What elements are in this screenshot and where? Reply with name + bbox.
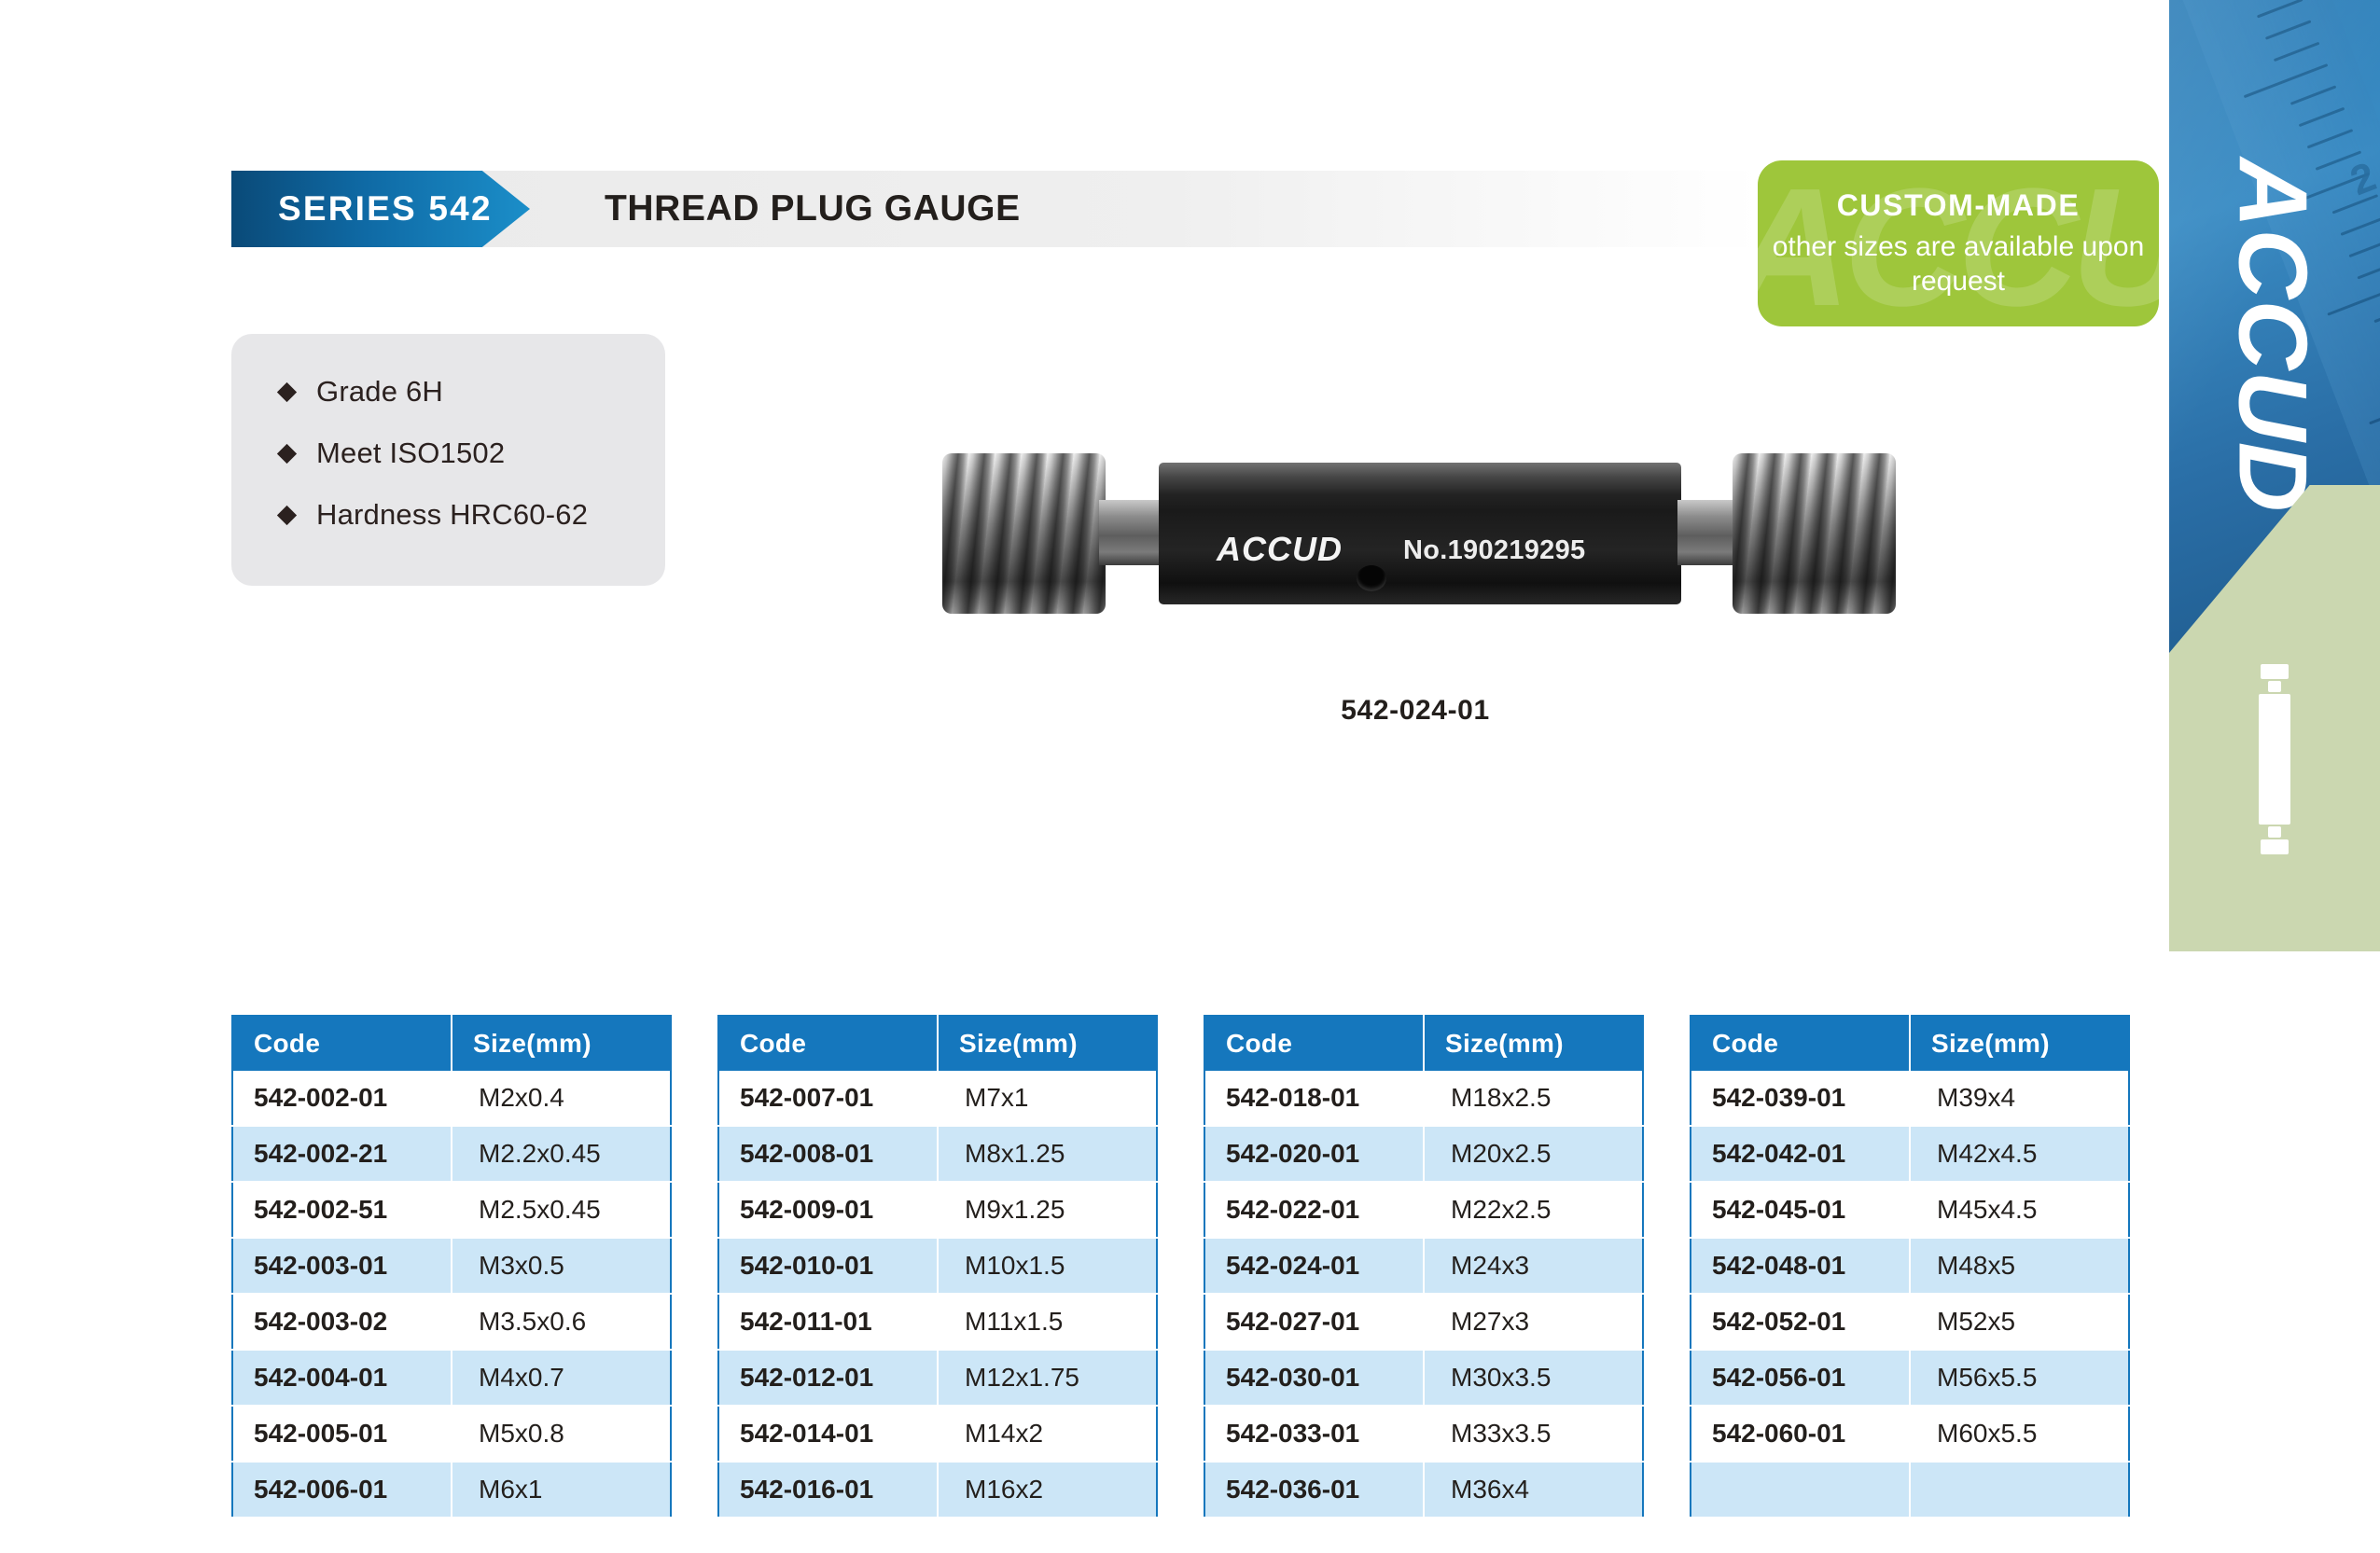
custom-made-badge: ACCUD CUSTOM-MADE other sizes are availa…	[1758, 160, 2159, 326]
cell-size	[1910, 1462, 2129, 1518]
feature-item: Hardness HRC60-62	[280, 498, 665, 532]
cell-size: M6x1	[452, 1462, 671, 1518]
cell-code: 542-060-01	[1691, 1406, 1910, 1462]
table-row: 542-010-01M10x1.5	[718, 1238, 1157, 1294]
table-row: 542-002-51M2.5x0.45	[232, 1182, 671, 1238]
feature-label: Meet ISO1502	[316, 437, 505, 470]
cell-code: 542-002-01	[232, 1071, 452, 1126]
table-row: 542-033-01M33x3.5	[1204, 1406, 1643, 1462]
cell-code: 542-018-01	[1204, 1071, 1424, 1126]
cell-size: M30x3.5	[1424, 1350, 1643, 1406]
cell-size: M3x0.5	[452, 1238, 671, 1294]
table-row: 542-003-02M3.5x0.6	[232, 1294, 671, 1350]
cell-code: 542-004-01	[232, 1350, 452, 1406]
table-row: 542-016-01M16x2	[718, 1462, 1157, 1518]
column-header-code: Code	[718, 1016, 938, 1071]
table-row: 542-004-01M4x0.7	[232, 1350, 671, 1406]
cell-code: 542-010-01	[718, 1238, 938, 1294]
cell-size: M11x1.5	[938, 1294, 1157, 1350]
table-row: 542-011-01M11x1.5	[718, 1294, 1157, 1350]
table-row: 542-003-01M3x0.5	[232, 1238, 671, 1294]
diamond-bullet-icon	[277, 443, 297, 463]
cell-size: M2x0.4	[452, 1071, 671, 1126]
table-header-row: Code Size(mm)	[1691, 1016, 2129, 1071]
cell-size: M56x5.5	[1910, 1350, 2129, 1406]
table-row: 542-018-01M18x2.5	[1204, 1071, 1643, 1126]
cell-code: 542-014-01	[718, 1406, 938, 1462]
table-row: 542-056-01M56x5.5	[1691, 1350, 2129, 1406]
cell-size: M45x4.5	[1910, 1182, 2129, 1238]
column-header-code: Code	[1691, 1016, 1910, 1071]
shank-left	[1099, 500, 1166, 565]
product-caption: 542-024-01	[888, 695, 1942, 727]
cell-code: 542-056-01	[1691, 1350, 1910, 1406]
cell-code: 542-042-01	[1691, 1126, 1910, 1182]
table-header-row: Code Size(mm)	[1204, 1016, 1643, 1071]
column-header-code: Code	[232, 1016, 452, 1071]
cell-code: 542-007-01	[718, 1071, 938, 1126]
table-row: 542-027-01M27x3	[1204, 1294, 1643, 1350]
series-label: SERIES 542	[278, 189, 493, 229]
cell-code: 542-003-02	[232, 1294, 452, 1350]
column-header-size: Size(mm)	[1910, 1016, 2129, 1071]
table-row: 542-014-01M14x2	[718, 1406, 1157, 1462]
spec-table-4: Code Size(mm) 542-039-01M39x4542-042-01M…	[1690, 1015, 2130, 1518]
cell-code: 542-027-01	[1204, 1294, 1424, 1350]
cell-size: M33x3.5	[1424, 1406, 1643, 1462]
table-row: 542-005-01M5x0.8	[232, 1406, 671, 1462]
threaded-end-right	[1733, 453, 1896, 614]
cell-code: 542-016-01	[718, 1462, 938, 1518]
spec-table-2: Code Size(mm) 542-007-01M7x1542-008-01M8…	[717, 1015, 1158, 1518]
gauge-hole	[1357, 565, 1386, 591]
table-header-row: Code Size(mm)	[718, 1016, 1157, 1071]
table-row: 542-045-01M45x4.5	[1691, 1182, 2129, 1238]
cell-size: M36x4	[1424, 1462, 1643, 1518]
cell-code: 542-002-21	[232, 1126, 452, 1182]
feature-label: Grade 6H	[316, 375, 443, 409]
table-row: 542-002-01M2x0.4	[232, 1071, 671, 1126]
cell-size: M24x3	[1424, 1238, 1643, 1294]
cell-size: M3.5x0.6	[452, 1294, 671, 1350]
table-body-4: 542-039-01M39x4542-042-01M42x4.5542-045-…	[1691, 1071, 2129, 1518]
cell-size: M42x4.5	[1910, 1126, 2129, 1182]
table-body-3: 542-018-01M18x2.5542-020-01M20x2.5542-02…	[1204, 1071, 1643, 1518]
cell-code: 542-033-01	[1204, 1406, 1424, 1462]
cell-code: 542-011-01	[718, 1294, 938, 1350]
cell-code: 542-022-01	[1204, 1182, 1424, 1238]
cell-code: 542-008-01	[718, 1126, 938, 1182]
cell-code: 542-048-01	[1691, 1238, 1910, 1294]
spec-tables: Code Size(mm) 542-002-01M2x0.4542-002-21…	[231, 1015, 2153, 1518]
cell-size: M5x0.8	[452, 1406, 671, 1462]
cell-size: M22x2.5	[1424, 1182, 1643, 1238]
cell-code: 542-009-01	[718, 1182, 938, 1238]
cell-size: M16x2	[938, 1462, 1157, 1518]
cell-code: 542-030-01	[1204, 1350, 1424, 1406]
table-row: 542-036-01M36x4	[1204, 1462, 1643, 1518]
cell-size: M2.2x0.45	[452, 1126, 671, 1182]
table-row: 542-020-01M20x2.5	[1204, 1126, 1643, 1182]
features-card: Grade 6H Meet ISO1502 Hardness HRC60-62	[231, 334, 665, 586]
page-header: SERIES 542 THREAD PLUG GAUGE	[231, 171, 1761, 247]
thread-plug-gauge-icon	[2259, 662, 2290, 856]
cell-code: 542-052-01	[1691, 1294, 1910, 1350]
cell-code: 542-039-01	[1691, 1071, 1910, 1126]
table-row: 542-048-01M48x5	[1691, 1238, 2129, 1294]
table-row: 542-008-01M8x1.25	[718, 1126, 1157, 1182]
gauge-brand-label: ACCUD	[1217, 530, 1343, 569]
table-row	[1691, 1462, 2129, 1518]
cell-code: 542-006-01	[232, 1462, 452, 1518]
table-row: 542-030-01M30x3.5	[1204, 1350, 1643, 1406]
feature-item: Grade 6H	[280, 375, 665, 409]
cell-code: 542-003-01	[232, 1238, 452, 1294]
cell-size: M7x1	[938, 1071, 1157, 1126]
spec-table-3: Code Size(mm) 542-018-01M18x2.5542-020-0…	[1204, 1015, 1644, 1518]
cell-code: 542-045-01	[1691, 1182, 1910, 1238]
table-row: 542-039-01M39x4	[1691, 1071, 2129, 1126]
gauge-serial-label: No.190219295	[1403, 535, 1585, 566]
cell-code: 542-002-51	[232, 1182, 452, 1238]
table-row: 542-012-01M12x1.75	[718, 1350, 1157, 1406]
table-header-row: Code Size(mm)	[232, 1016, 671, 1071]
cell-size: M18x2.5	[1424, 1071, 1643, 1126]
threaded-end-left	[942, 453, 1106, 614]
series-badge: SERIES 542	[231, 171, 530, 247]
cell-size: M8x1.25	[938, 1126, 1157, 1182]
table-row: 542-022-01M22x2.5	[1204, 1182, 1643, 1238]
table-row: 542-042-01M42x4.5	[1691, 1126, 2129, 1182]
column-header-size: Size(mm)	[452, 1016, 671, 1071]
cell-size: M10x1.5	[938, 1238, 1157, 1294]
table-body-2: 542-007-01M7x1542-008-01M8x1.25542-009-0…	[718, 1071, 1157, 1518]
cell-code: 542-024-01	[1204, 1238, 1424, 1294]
table-row: 542-052-01M52x5	[1691, 1294, 2129, 1350]
table-row: 542-024-01M24x3	[1204, 1238, 1643, 1294]
cell-size: M4x0.7	[452, 1350, 671, 1406]
cell-code: 542-020-01	[1204, 1126, 1424, 1182]
cell-size: M60x5.5	[1910, 1406, 2129, 1462]
table-row: 542-007-01M7x1	[718, 1071, 1157, 1126]
page-title: THREAD PLUG GAUGE	[605, 171, 1021, 247]
spec-table-1: Code Size(mm) 542-002-01M2x0.4542-002-21…	[231, 1015, 672, 1518]
feature-label: Hardness HRC60-62	[316, 498, 588, 532]
table-row: 542-006-01M6x1	[232, 1462, 671, 1518]
feature-item: Meet ISO1502	[280, 437, 665, 470]
cell-code: 542-036-01	[1204, 1462, 1424, 1518]
column-header-code: Code	[1204, 1016, 1424, 1071]
cell-code: 542-005-01	[232, 1406, 452, 1462]
cell-size: M9x1.25	[938, 1182, 1157, 1238]
cell-size: M12x1.75	[938, 1350, 1157, 1406]
cell-size: M48x5	[1910, 1238, 2129, 1294]
cell-size: M20x2.5	[1424, 1126, 1643, 1182]
table-row: 542-002-21M2.2x0.45	[232, 1126, 671, 1182]
cell-code: 542-012-01	[718, 1350, 938, 1406]
product-photo: ACCUD No.190219295	[888, 437, 1942, 632]
sidebar-green-panel	[2169, 485, 2380, 951]
diamond-bullet-icon	[277, 381, 297, 401]
column-header-size: Size(mm)	[938, 1016, 1157, 1071]
cell-size: M52x5	[1910, 1294, 2129, 1350]
cell-size: M27x3	[1424, 1294, 1643, 1350]
badge-subtitle: other sizes are available upon request	[1758, 230, 2159, 298]
cell-size: M2.5x0.45	[452, 1182, 671, 1238]
column-header-size: Size(mm)	[1424, 1016, 1643, 1071]
badge-title: CUSTOM-MADE	[1837, 188, 2081, 223]
cell-size: M39x4	[1910, 1071, 2129, 1126]
cell-code	[1691, 1462, 1910, 1518]
cell-size: M14x2	[938, 1406, 1157, 1462]
table-row: 542-060-01M60x5.5	[1691, 1406, 2129, 1462]
table-body-1: 542-002-01M2x0.4542-002-21M2.2x0.45542-0…	[232, 1071, 671, 1518]
table-row: 542-009-01M9x1.25	[718, 1182, 1157, 1238]
diamond-bullet-icon	[277, 505, 297, 524]
gauge-body: ACCUD No.190219295	[1159, 463, 1681, 604]
